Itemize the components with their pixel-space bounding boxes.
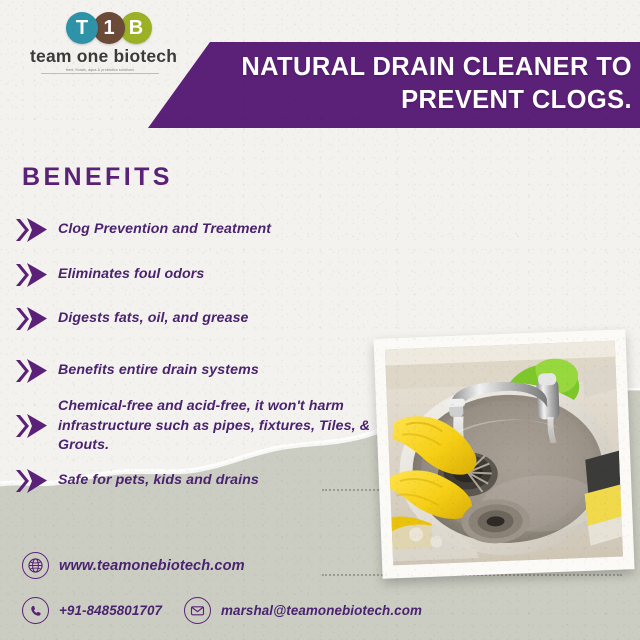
list-item: Benefits entire drain systems	[14, 357, 394, 385]
logo-tagline: feed, florals, aqua & probiotics solutio…	[30, 68, 170, 72]
list-item-label: Safe for pets, kids and drains	[58, 471, 259, 491]
list-item-label: Chemical-free and acid-free, it won't ha…	[58, 397, 388, 456]
list-item-label: Eliminates foul odors	[58, 265, 204, 285]
double-chevron-arrow-icon	[14, 412, 54, 440]
list-item-label: Benefits entire drain systems	[58, 361, 259, 381]
poster-canvas: T 1 B team one biotech feed, florals, aq…	[0, 0, 640, 640]
email-label: marshal@teamonebiotech.com	[221, 603, 422, 618]
product-photo	[385, 341, 623, 566]
benefits-heading: BENEFITS	[22, 163, 173, 192]
headline-line-2: PREVENT CLOGS.	[218, 84, 632, 117]
contact-phone[interactable]: +91-8485801707	[22, 597, 162, 624]
website-label: www.teamonebiotech.com	[59, 558, 245, 574]
list-item: Chemical-free and acid-free, it won't ha…	[14, 397, 394, 456]
list-item-label: Digests fats, oil, and grease	[58, 309, 249, 329]
double-chevron-arrow-icon	[14, 467, 54, 495]
list-item: Clog Prevention and Treatment	[14, 216, 394, 244]
headline-line-1: NATURAL DRAIN CLEANER TO	[218, 51, 632, 84]
list-item: Eliminates foul odors	[14, 261, 394, 289]
phone-label: +91-8485801707	[59, 603, 162, 618]
logo-circles: T 1 B	[48, 12, 170, 44]
footer-row-website: www.teamonebiotech.com	[22, 552, 622, 579]
list-item: Digests fats, oil, and grease	[14, 305, 394, 333]
contact-email[interactable]: marshal@teamonebiotech.com	[184, 597, 422, 624]
footer-contact: www.teamonebiotech.com +91-8485801707	[22, 552, 622, 624]
logo-divider	[41, 73, 159, 74]
phone-icon	[22, 597, 49, 624]
contact-website[interactable]: www.teamonebiotech.com	[22, 552, 245, 579]
header-banner: NATURAL DRAIN CLEANER TO PREVENT CLOGS.	[148, 42, 640, 128]
product-photo-frame	[373, 329, 634, 578]
footer-row-phone-email: +91-8485801707 marshal@teamonebiotech.co…	[22, 597, 622, 624]
brand-logo: T 1 B team one biotech feed, florals, aq…	[30, 12, 170, 74]
benefits-list: Clog Prevention and Treatment Eliminates…	[14, 216, 394, 509]
logo-circle-t: T	[66, 12, 98, 44]
double-chevron-arrow-icon	[14, 216, 54, 244]
double-chevron-arrow-icon	[14, 305, 54, 333]
logo-company-name: team one biotech	[30, 46, 170, 67]
globe-icon	[22, 552, 49, 579]
list-item-label: Clog Prevention and Treatment	[58, 220, 271, 240]
headline: NATURAL DRAIN CLEANER TO PREVENT CLOGS.	[218, 51, 632, 117]
double-chevron-arrow-icon	[14, 357, 54, 385]
envelope-icon	[184, 597, 211, 624]
double-chevron-arrow-icon	[14, 261, 54, 289]
